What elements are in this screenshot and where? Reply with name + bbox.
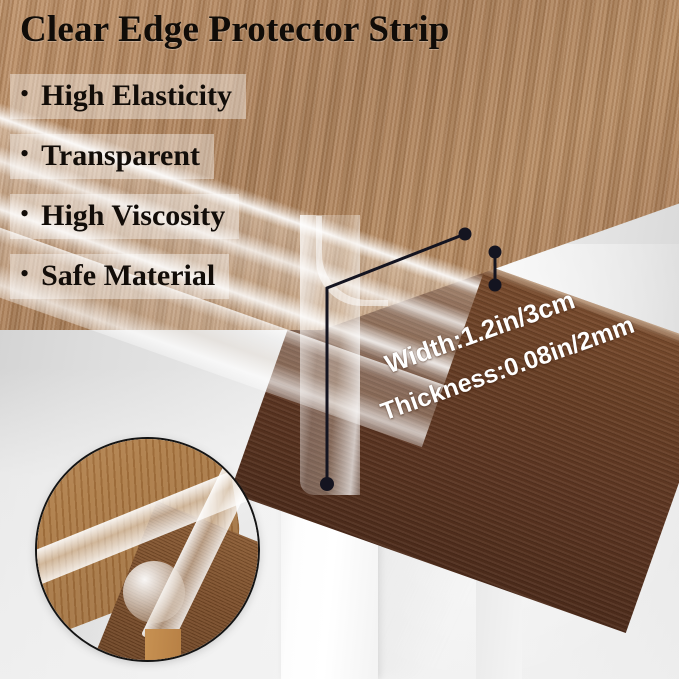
corner-detail-inset <box>35 437 260 662</box>
feature-label: Safe Material <box>41 259 215 293</box>
inset-table-leg <box>145 629 181 662</box>
bullet-icon: • <box>20 261 29 287</box>
bullet-icon: • <box>20 141 29 167</box>
feature-label: High Elasticity <box>41 79 232 113</box>
page-title: Clear Edge Protector Strip <box>20 8 450 51</box>
bullet-icon: • <box>20 201 29 227</box>
feature-item-transparent: • Transparent <box>10 134 214 179</box>
product-image: Clear Edge Protector Strip • High Elasti… <box>0 0 679 679</box>
feature-item-high-elasticity: • High Elasticity <box>10 74 246 119</box>
feature-item-safe-material: • Safe Material <box>10 254 229 299</box>
bullet-icon: • <box>20 81 29 107</box>
feature-list: • High Elasticity • Transparent • High V… <box>10 74 246 314</box>
feature-item-high-viscosity: • High Viscosity <box>10 194 239 239</box>
inset-strip-corner <box>123 561 185 623</box>
feature-label: Transparent <box>41 139 200 173</box>
feature-label: High Viscosity <box>41 199 225 233</box>
